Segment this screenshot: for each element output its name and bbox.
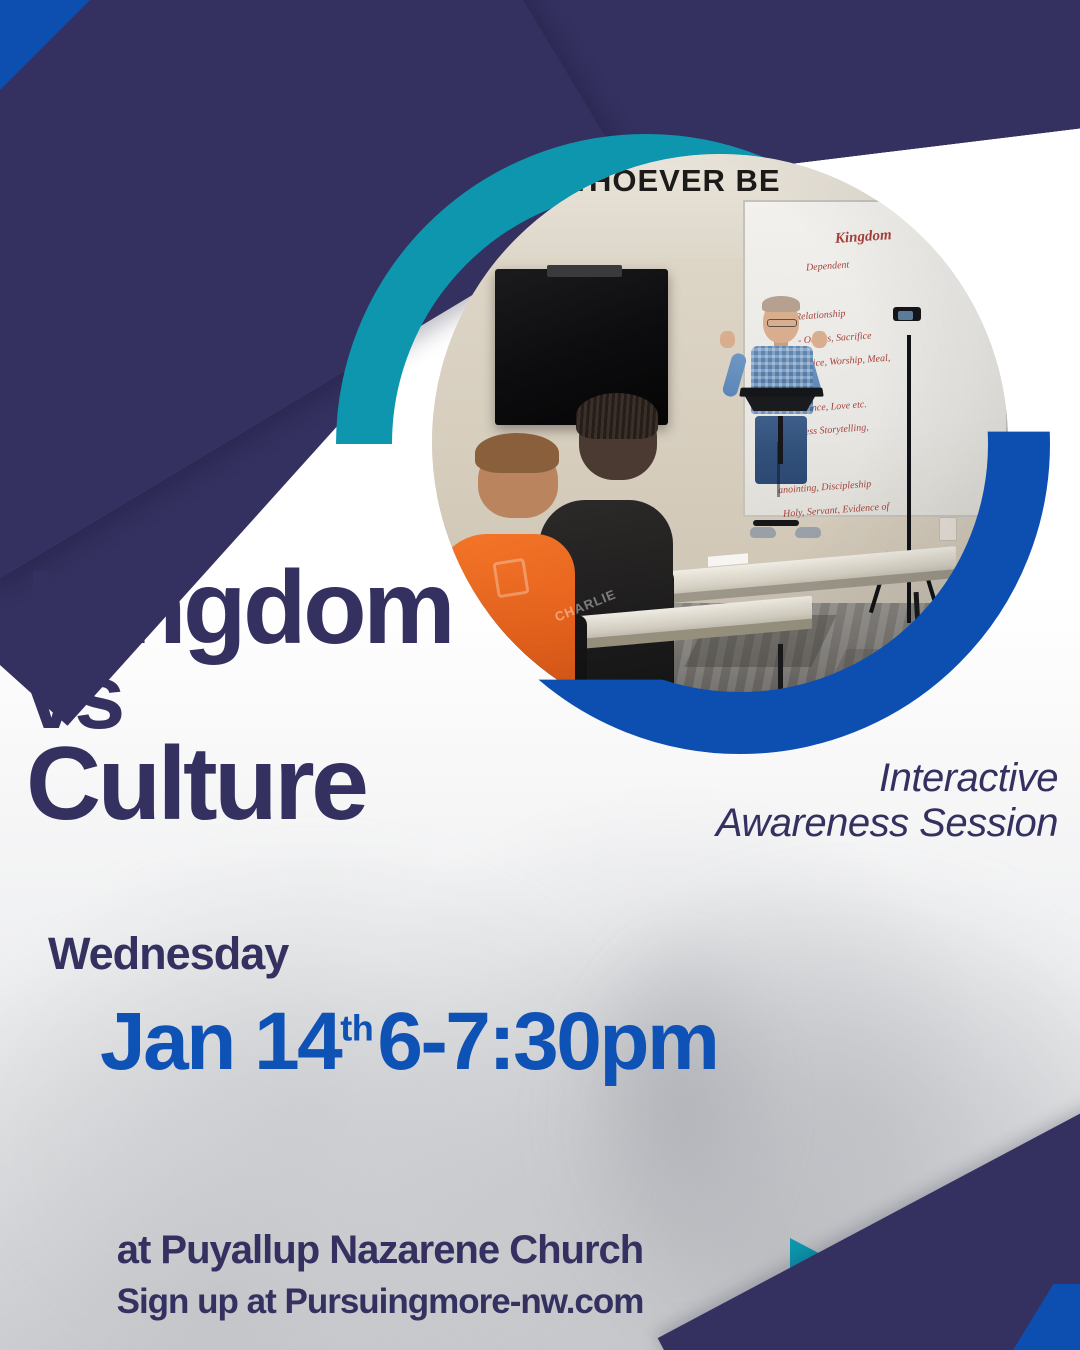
tagline-line-1: Interactive [538, 756, 1058, 801]
photo-wall-banner-text: WHOEVER BE [559, 163, 916, 199]
tagline-line-2: Awareness Session [538, 801, 1058, 846]
speaker-glasses [767, 319, 797, 327]
event-datetime: Jan 14th6-7:30pm [100, 995, 717, 1089]
signup-url[interactable]: Sign up at Pursuingmore-nw.com [0, 1282, 760, 1322]
music-stand-top [739, 388, 824, 397]
tripod-phone-screen [898, 311, 913, 320]
whiteboard-title: Kingdom [835, 227, 893, 249]
speaker-left-hand [720, 331, 735, 348]
photo-tv-mount [547, 265, 622, 278]
whiteboard-line: Dependent [806, 259, 850, 274]
title-line-1: Kingdom [26, 562, 646, 656]
speaker-hair [762, 296, 800, 312]
speaker-right-hand [812, 331, 827, 348]
session-tagline: Interactive Awareness Session [538, 756, 1058, 846]
event-venue: at Puyallup Nazarene Church [0, 1228, 760, 1273]
event-poster: WHOEVER BE Kingdom Dependent Relationshi… [0, 0, 1080, 1350]
attendee-hair [576, 393, 658, 439]
event-day: Wednesday [48, 928, 288, 980]
event-time: 6-7:30pm [377, 996, 717, 1087]
date-ordinal-suffix: th [340, 1008, 373, 1049]
attendee-hair [475, 433, 559, 473]
event-date: Jan 14 [100, 996, 340, 1087]
